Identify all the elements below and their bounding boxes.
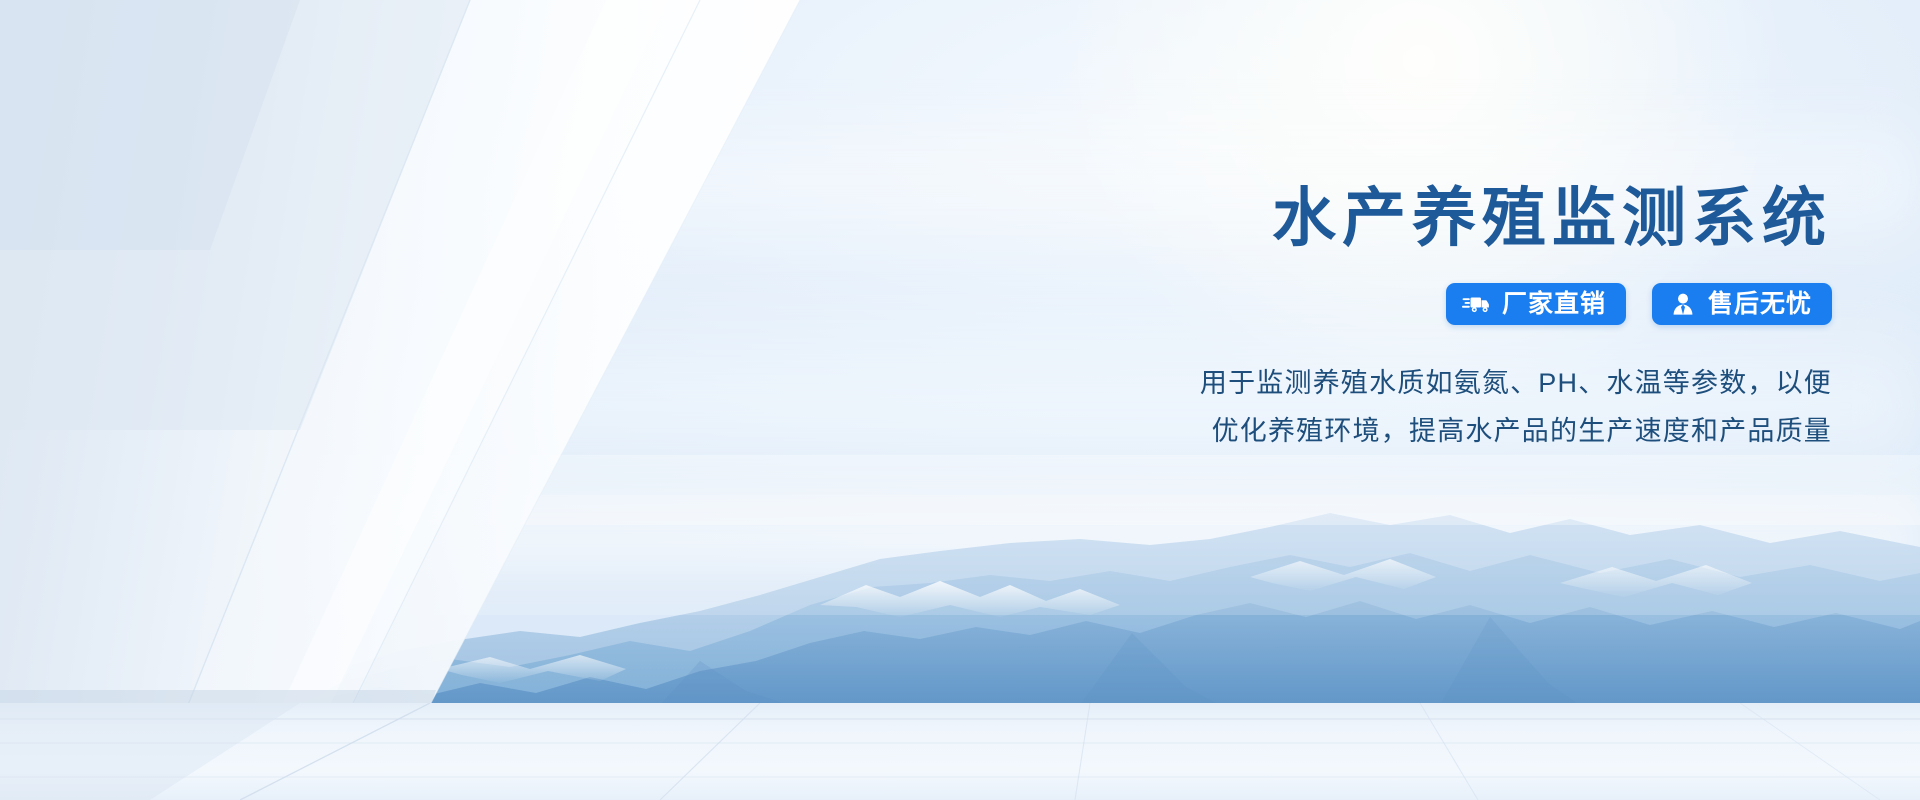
hero-banner: 水产养殖监测系统 xyxy=(0,0,1920,800)
banner-content: 水产养殖监测系统 xyxy=(832,0,1832,800)
badge-label: 售后无忧 xyxy=(1708,292,1812,317)
badge-label: 厂家直销 xyxy=(1502,292,1606,317)
truck-icon xyxy=(1462,291,1492,317)
banner-subtitle: 用于监测养殖水质如氨氮、PH、水温等参数，以便 优化养殖环境，提高水产品的生产速… xyxy=(1200,359,1832,455)
badge-after-sales[interactable]: 售后无忧 xyxy=(1652,283,1832,325)
subtitle-line-1: 用于监测养殖水质如氨氮、PH、水温等参数，以便 xyxy=(1200,359,1832,407)
user-support-icon xyxy=(1668,291,1698,317)
badge-group: 厂家直销 售后无忧 xyxy=(1446,283,1832,325)
page-title: 水产养殖监测系统 xyxy=(1272,184,1832,253)
subtitle-line-2: 优化养殖环境，提高水产品的生产速度和产品质量 xyxy=(1200,407,1832,455)
badge-factory-direct[interactable]: 厂家直销 xyxy=(1446,283,1626,325)
